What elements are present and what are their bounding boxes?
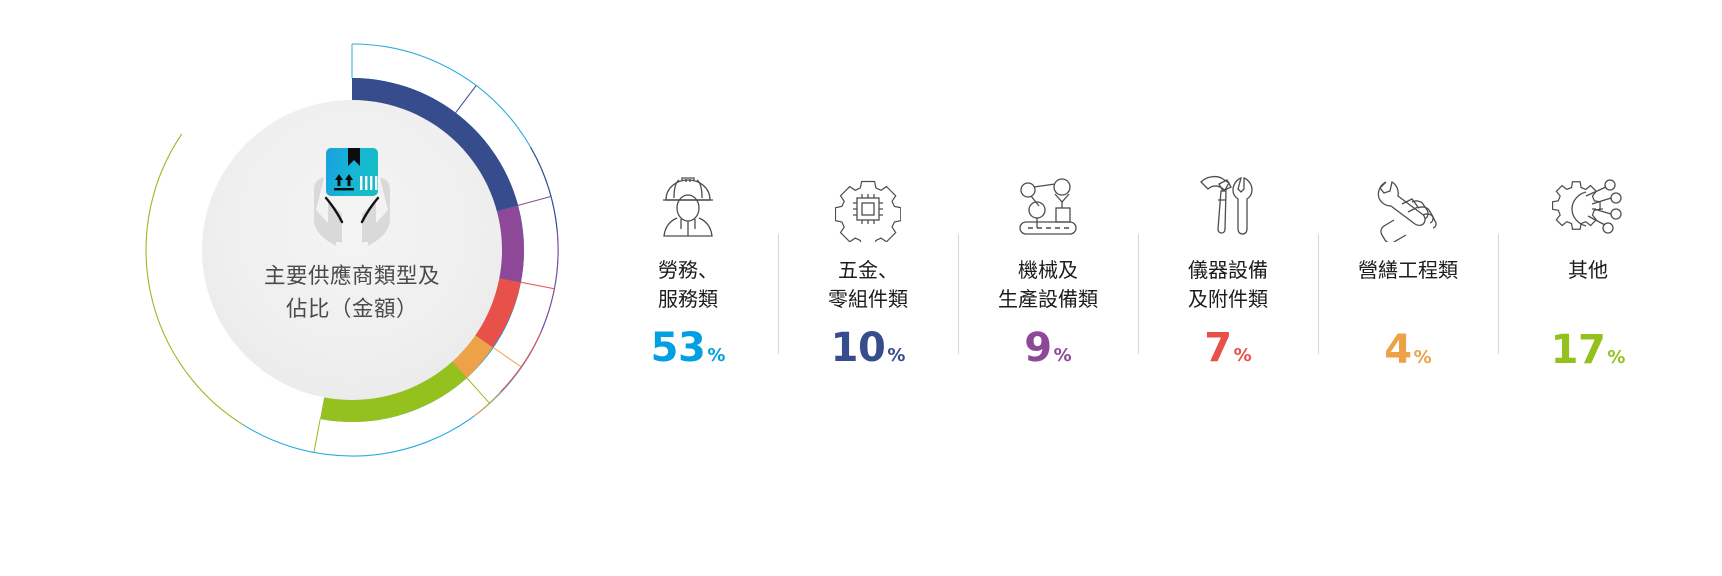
gear-chip-icon — [835, 168, 901, 242]
legend-label-line2: 及附件類 — [1188, 285, 1268, 314]
worker-hardhat-icon — [656, 168, 720, 242]
legend-percent-symbol: % — [1607, 347, 1625, 368]
legend-label-line1: 勞務、 — [658, 256, 718, 285]
infographic-page: 主要供應商類型及 佔比（金額） — [0, 0, 1722, 576]
gear-network-icon — [1552, 168, 1624, 242]
legend-label-line1: 其他 — [1568, 256, 1608, 285]
legend-item-other[interactable]: 其他 17 % — [1498, 168, 1678, 370]
donut-chart: 主要供應商類型及 佔比（金額） — [140, 38, 564, 462]
hands-holding-box-icon — [294, 144, 410, 248]
legend-label-line1: 機械及 — [998, 256, 1098, 285]
legend-label: 營繕工程類 — [1358, 256, 1458, 285]
legend-value: 17 % — [1551, 330, 1626, 370]
center-title: 主要供應商類型及 佔比（金額） — [264, 260, 440, 327]
legend-label-line1: 營繕工程類 — [1358, 256, 1458, 285]
legend-number: 7 — [1204, 328, 1231, 368]
legend-item-machinery-equipment[interactable]: 機械及 生產設備類 9 % — [958, 168, 1138, 368]
legend-value: 7 % — [1204, 328, 1251, 368]
legend-label-line1: 儀器設備 — [1188, 256, 1268, 285]
legend-percent-symbol: % — [887, 345, 905, 366]
legend-label: 機械及 生產設備類 — [998, 256, 1098, 314]
legend-percent-symbol: % — [1414, 347, 1432, 368]
legend-list: 勞務、 服務類 53 % 五金 — [598, 168, 1678, 368]
legend-number: 53 — [651, 328, 706, 368]
robot-arm-conveyor-icon — [1012, 168, 1084, 242]
legend-label: 勞務、 服務類 — [658, 256, 718, 314]
legend-value: 10 % — [831, 328, 906, 368]
legend-value: 4 % — [1384, 330, 1431, 370]
legend-label: 其他 — [1568, 256, 1608, 285]
hammer-wrench-icon — [1197, 168, 1259, 242]
legend-item-construction-works[interactable]: 營繕工程類 4 % — [1318, 168, 1498, 370]
legend-label-line2: 零組件類 — [828, 285, 908, 314]
legend-percent-symbol: % — [1054, 345, 1072, 366]
legend-item-instruments-accessories[interactable]: 儀器設備 及附件類 7 % — [1138, 168, 1318, 368]
legend-label: 五金、 零組件類 — [828, 256, 908, 314]
legend-item-labor-services[interactable]: 勞務、 服務類 53 % — [598, 168, 778, 368]
legend-item-hardware-parts[interactable]: 五金、 零組件類 10 % — [778, 168, 958, 368]
legend-number: 4 — [1384, 330, 1411, 370]
legend-percent-symbol: % — [707, 345, 725, 366]
center-title-line2: 佔比（金額） — [264, 293, 440, 326]
hand-holding-wrench-icon — [1372, 168, 1444, 242]
donut-center-label: 主要供應商類型及 佔比（金額） — [202, 100, 502, 400]
legend-percent-symbol: % — [1234, 345, 1252, 366]
legend-label-line2: 生產設備類 — [998, 285, 1098, 314]
legend-value: 9 % — [1024, 328, 1071, 368]
legend-number: 17 — [1551, 330, 1606, 370]
legend-label-line1: 五金、 — [828, 256, 908, 285]
legend-number: 10 — [831, 328, 886, 368]
legend-label: 儀器設備 及附件類 — [1188, 256, 1268, 314]
legend-value: 53 % — [651, 328, 726, 368]
legend-label-line2: 服務類 — [658, 285, 718, 314]
center-title-line1: 主要供應商類型及 — [264, 260, 440, 293]
legend-number: 9 — [1024, 328, 1051, 368]
